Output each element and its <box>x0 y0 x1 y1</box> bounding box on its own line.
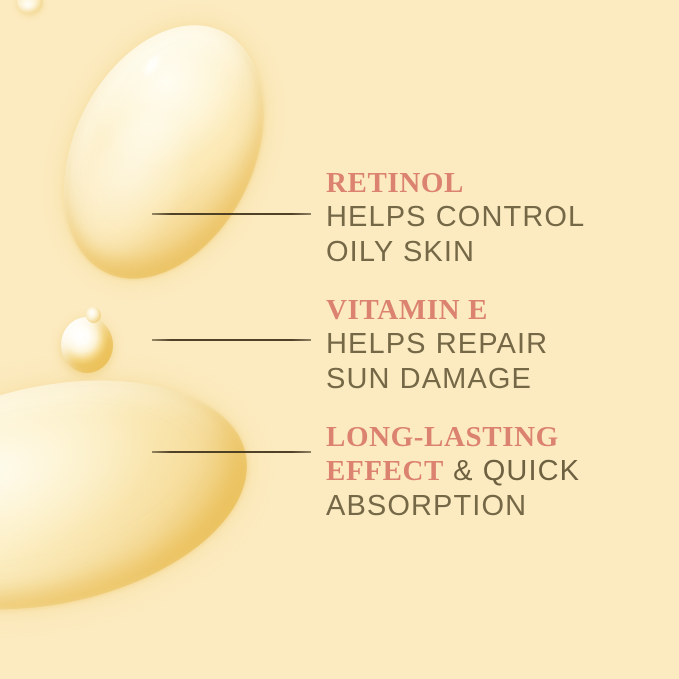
leader-line-1 <box>152 213 311 215</box>
large-serum-droplet-rim <box>24 0 303 312</box>
benefit-block-retinol: RETINOL HELPS CONTROL OILY SKIN <box>326 166 585 270</box>
bottom-serum-blob-rim <box>0 347 268 643</box>
tiny-droplet-top <box>17 0 43 14</box>
leader-line-2 <box>152 339 311 341</box>
round-droplet <box>61 317 113 373</box>
benefit-block-long-lasting: LONG-LASTING EFFECT & QUICK ABSORPTION <box>326 420 580 524</box>
bottom-serum-blob <box>0 347 268 643</box>
large-serum-droplet-highlight <box>140 51 164 79</box>
benefit-headline-retinol: RETINOL <box>326 166 585 200</box>
benefit-headline-long-lasting: LONG-LASTING <box>326 420 580 454</box>
benefit-line-long-lasting-mixed: EFFECT & QUICK <box>326 454 580 489</box>
benefit-line-vitamin-e-1: HELPS REPAIR <box>326 327 548 362</box>
benefit-accent-effect: EFFECT <box>326 455 444 487</box>
droplet-bubble <box>86 307 101 323</box>
large-serum-droplet-inner-glow <box>60 98 207 272</box>
benefit-line-long-lasting-rest: & QUICK <box>444 455 580 487</box>
benefit-line-retinol-2: OILY SKIN <box>326 235 585 270</box>
leader-line-3 <box>152 451 311 453</box>
large-serum-droplet <box>24 0 303 312</box>
benefit-line-long-lasting-2: ABSORPTION <box>326 489 580 524</box>
benefit-line-retinol-1: HELPS CONTROL <box>326 200 585 235</box>
benefit-line-vitamin-e-2: SUN DAMAGE <box>326 362 548 397</box>
benefit-block-vitamin-e: VITAMIN E HELPS REPAIR SUN DAMAGE <box>326 293 548 397</box>
serum-benefits-infographic: RETINOL HELPS CONTROL OILY SKIN VITAMIN … <box>0 0 679 679</box>
benefit-headline-vitamin-e: VITAMIN E <box>326 293 548 327</box>
